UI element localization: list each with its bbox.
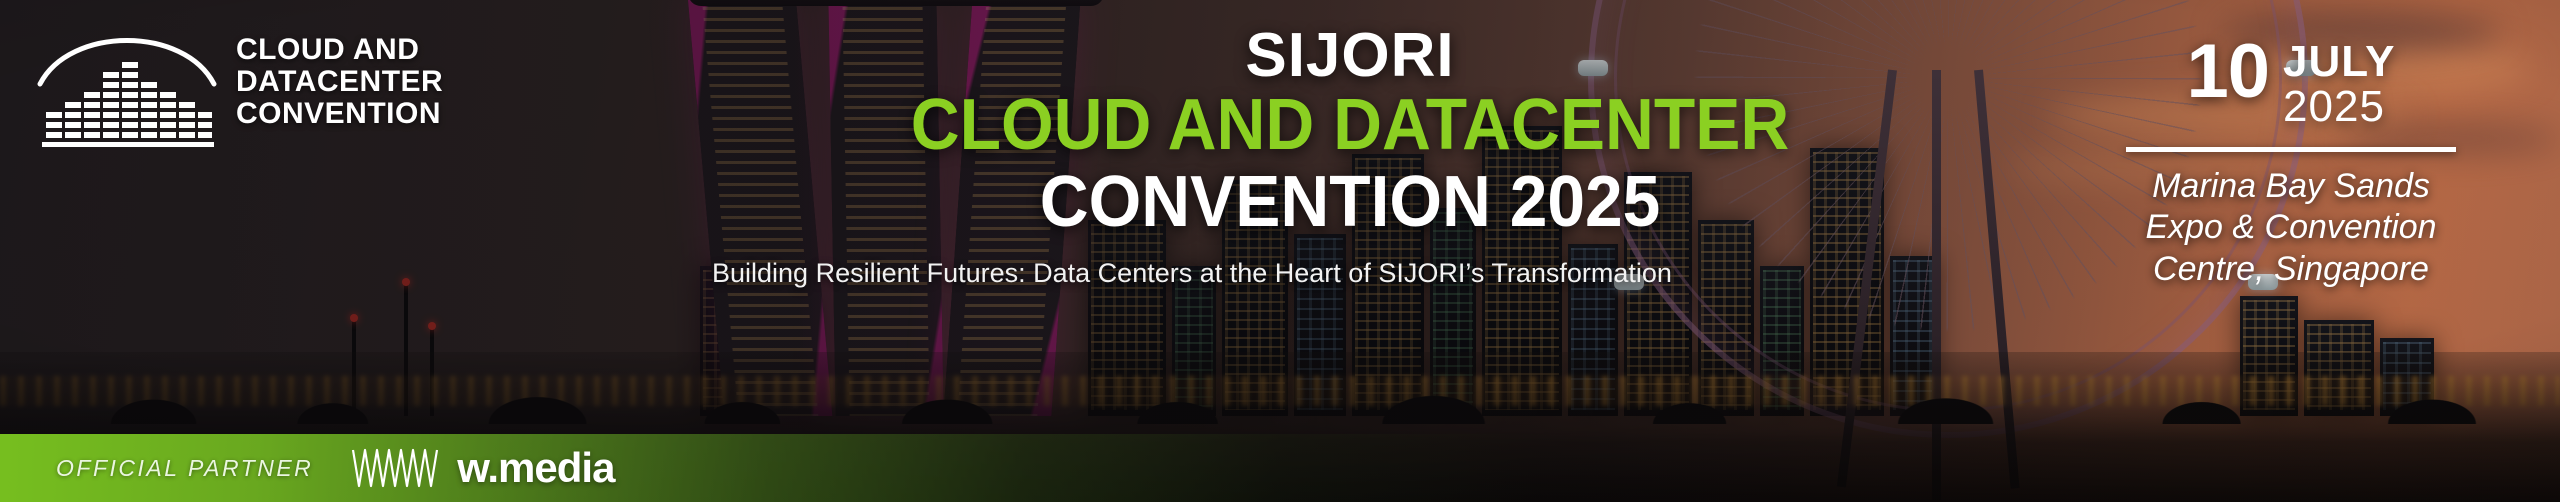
- event-month-year: JULY 2025: [2283, 36, 2395, 131]
- event-day: 10: [2187, 36, 2270, 109]
- wmedia-wordmark: w.media: [457, 447, 614, 489]
- cdc-logo-line-1: CLOUD AND: [236, 34, 443, 66]
- wmedia-zigzag-icon: [349, 446, 445, 490]
- event-banner: CLOUD AND DATACENTER CONVENTION SIJORI C…: [0, 0, 2560, 502]
- title-white-line: CONVENTION 2025: [739, 164, 1961, 240]
- wmedia-logo[interactable]: w.media: [349, 446, 614, 490]
- venue-line-1: Marina Bay Sands: [2076, 166, 2506, 207]
- cdc-convention-logo[interactable]: CLOUD AND DATACENTER CONVENTION: [34, 16, 443, 148]
- event-date: 10 JULY 2025: [2076, 36, 2506, 131]
- event-year: 2025: [2283, 84, 2395, 131]
- divider-rule: [2126, 147, 2456, 152]
- event-subtitle: Building Resilient Futures: Data Centers…: [700, 256, 2000, 292]
- event-details-block: 10 JULY 2025 Marina Bay Sands Expo & Con…: [2076, 36, 2506, 290]
- official-partner-bar: OFFICIAL PARTNER w.media: [0, 434, 2560, 502]
- title-region: SIJORI: [700, 24, 2000, 87]
- event-month: JULY: [2283, 40, 2395, 84]
- cdc-logo-line-2: DATACENTER: [236, 66, 443, 98]
- event-venue: Marina Bay Sands Expo & Convention Centr…: [2076, 166, 2506, 290]
- cdc-logo-wordmark: CLOUD AND DATACENTER CONVENTION: [236, 34, 443, 129]
- cdc-logo-line-3: CONVENTION: [236, 98, 443, 130]
- venue-line-3: Centre, Singapore: [2076, 249, 2506, 290]
- official-partner-label: OFFICIAL PARTNER: [56, 455, 313, 482]
- cloud-datacenter-logo-icon: [34, 16, 220, 148]
- venue-line-2: Expo & Convention: [2076, 207, 2506, 248]
- event-title-block: SIJORI CLOUD AND DATACENTER CONVENTION 2…: [700, 24, 2000, 291]
- title-green-line: CLOUD AND DATACENTER: [739, 87, 1961, 163]
